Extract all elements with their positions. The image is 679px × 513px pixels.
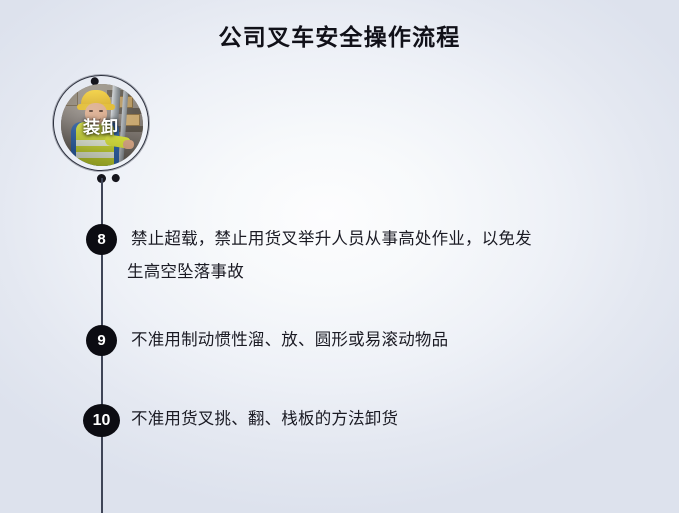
slide-canvas: 公司叉车安全操作流程 装卸 xyxy=(0,0,679,513)
step-text: 禁止超载，禁止用货叉举升人员从事高处作业，以免发 生高空坠落事故 xyxy=(131,223,651,289)
page-title: 公司叉车安全操作流程 xyxy=(0,18,679,52)
step-text: 不准用制动惯性溜、放、圆形或易滚动物品 xyxy=(131,324,651,357)
ring-dot-bottom-icon xyxy=(111,173,121,183)
step-text-line2: 生高空坠落事故 xyxy=(127,256,651,289)
step-text: 不准用货叉挑、翻、栈板的方法卸货 xyxy=(131,403,651,436)
step-number-badge: 10 xyxy=(83,404,120,437)
badge-photo-group[interactable]: 装卸 xyxy=(50,70,152,180)
step-text-line1: 不准用货叉挑、翻、栈板的方法卸货 xyxy=(131,410,398,428)
badge-label: 装卸 xyxy=(50,113,152,138)
step-number-badge: 9 xyxy=(86,325,117,356)
step-text-line1: 禁止超载，禁止用货叉举升人员从事高处作业，以免发 xyxy=(131,230,532,248)
step-number-badge: 8 xyxy=(86,224,117,255)
step-text-line1: 不准用制动惯性溜、放、圆形或易滚动物品 xyxy=(131,331,448,349)
